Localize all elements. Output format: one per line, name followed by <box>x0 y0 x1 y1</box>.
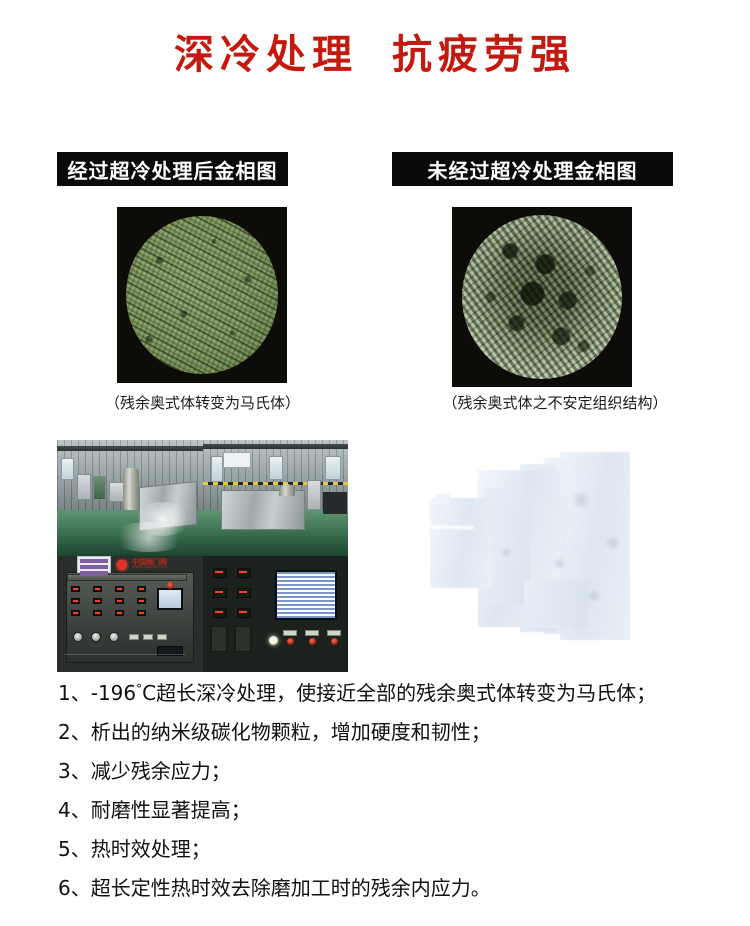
poster-page: 深冷处理抗疲劳强 经过超冷处理后金相图 未经过超冷处理金相图 （残余奥式体转变为… <box>0 0 750 926</box>
emergency-knob[interactable] <box>309 638 316 645</box>
digital-readout <box>71 610 80 616</box>
panel-tag <box>305 630 319 636</box>
panel-tag <box>327 630 341 636</box>
page-title-part1: 深冷处理 <box>174 32 358 78</box>
feature-list: 1、-196°C超长深冷处理，使接近全部的残余奥式体转变为马氏体； 2、析出的纳… <box>58 683 718 917</box>
digital-readout <box>137 586 146 592</box>
label-bar-treated-text: 经过超冷处理后金相图 <box>68 155 278 184</box>
scada-monitor[interactable] <box>275 570 337 620</box>
list-item: 5、热时效处理； <box>58 839 718 859</box>
micrograph-after-cryogenic-treatment <box>117 207 287 383</box>
indicator-lamp <box>269 636 278 645</box>
list-item-1-prefix: 1、-196 <box>58 681 136 705</box>
page-title: 深冷处理抗疲劳强 <box>0 22 750 80</box>
emergency-knob[interactable] <box>287 638 294 645</box>
indicator-lamp <box>167 582 174 589</box>
ceiling-beam-2 <box>203 444 348 449</box>
window-icon <box>61 458 74 480</box>
micrograph-disc-untreated <box>462 215 622 379</box>
part-speckle <box>500 548 512 557</box>
wall-notice-board <box>223 452 251 468</box>
panel-tag <box>129 634 139 640</box>
digital-readout <box>115 586 124 592</box>
chamber-port <box>279 484 295 496</box>
micrograph-disc-treated <box>126 216 278 374</box>
part-shaft <box>430 498 492 588</box>
digital-readout <box>93 586 102 592</box>
digital-readout <box>71 586 80 592</box>
panel-module <box>211 626 227 652</box>
panel-module <box>235 626 251 652</box>
photo-control-panel-right <box>203 556 348 672</box>
pressure-gauge <box>109 632 119 642</box>
watermark-text: 中国阀门网 www.zgbfw.com <box>132 559 168 571</box>
list-item: 3、减少残余应力； <box>58 761 718 781</box>
window-icon-3 <box>269 456 283 480</box>
label-bar-treated: 经过超冷处理后金相图 <box>57 152 288 186</box>
digital-readout <box>115 610 124 616</box>
list-item: 2、析出的纳米级碳化物颗粒，增加硬度和韧性； <box>58 722 718 742</box>
photo-workshop-right <box>203 440 348 556</box>
panel-tag <box>143 634 153 640</box>
machine-dark <box>323 492 347 514</box>
digital-readout <box>137 598 146 604</box>
page-title-part2: 抗疲劳强 <box>392 32 576 78</box>
digital-readout <box>213 608 227 618</box>
part-keyway-notch <box>436 494 450 504</box>
list-item-1-suffix: C超长深冷处理，使接近全部的残余奥式体转变为马氏体； <box>142 681 656 705</box>
caption-untreated: （残余奥式体之不安定组织结构） <box>360 392 750 413</box>
digital-readout <box>237 588 251 598</box>
list-item: 6、超长定性热时效去除磨加工时的残余内应力。 <box>58 878 718 898</box>
panel-divider <box>65 654 185 655</box>
digital-readout <box>213 568 227 578</box>
part-speckle <box>552 558 566 569</box>
site-watermark: 中国阀门网 www.zgbfw.com <box>115 554 201 576</box>
label-bar-untreated-text: 未经过超冷处理金相图 <box>428 155 638 184</box>
part-speckle <box>586 590 602 602</box>
machined-valve-part-photo <box>400 440 710 680</box>
list-item: 1、-196°C超长深冷处理，使接近全部的残余奥式体转变为马氏体； <box>58 683 718 703</box>
part-speckle <box>570 492 592 508</box>
pressure-gauge <box>73 632 83 642</box>
control-cabinet-2 <box>93 476 106 500</box>
hmi-touchscreen[interactable] <box>157 588 183 610</box>
digital-readout <box>137 610 146 616</box>
micrograph-without-cryogenic-treatment <box>452 207 632 387</box>
vapor-cloud-2 <box>109 522 189 552</box>
digital-readout <box>93 598 102 604</box>
digital-readout <box>237 568 251 578</box>
watermark-chip <box>77 556 111 573</box>
part-highlight <box>430 526 474 529</box>
digital-readout <box>115 598 124 604</box>
safety-tape <box>203 482 348 485</box>
control-cabinet-3 <box>307 480 321 510</box>
digital-readout <box>237 608 251 618</box>
caption-treated: （残余奥式体转变为马氏体） <box>0 392 405 413</box>
window-icon-2 <box>211 456 223 482</box>
watermark-logo-icon <box>115 558 129 572</box>
cryogenic-tank <box>123 468 139 510</box>
control-cabinet <box>77 474 91 500</box>
digital-readout <box>213 588 227 598</box>
photo-workshop-left <box>57 440 203 556</box>
part-lower-block <box>524 580 588 626</box>
list-item: 4、耐磨性显著提高； <box>58 800 718 820</box>
part-speckle <box>604 536 622 550</box>
panel-tag <box>157 634 167 640</box>
watermark-url: www.zgbfw.com <box>132 566 168 571</box>
window-icon-4 <box>325 456 341 480</box>
pressure-gauge <box>91 632 101 642</box>
digital-readout <box>71 598 80 604</box>
label-bar-untreated: 未经过超冷处理金相图 <box>392 152 673 186</box>
equipment-photo-collage: 中国阀门网 www.zgbfw.com <box>57 440 348 672</box>
panel-tag <box>283 630 297 636</box>
cryogenic-chamber-2 <box>221 490 305 530</box>
emergency-knob[interactable] <box>331 638 338 645</box>
ceiling-beam <box>57 446 203 451</box>
digital-readout <box>93 610 102 616</box>
